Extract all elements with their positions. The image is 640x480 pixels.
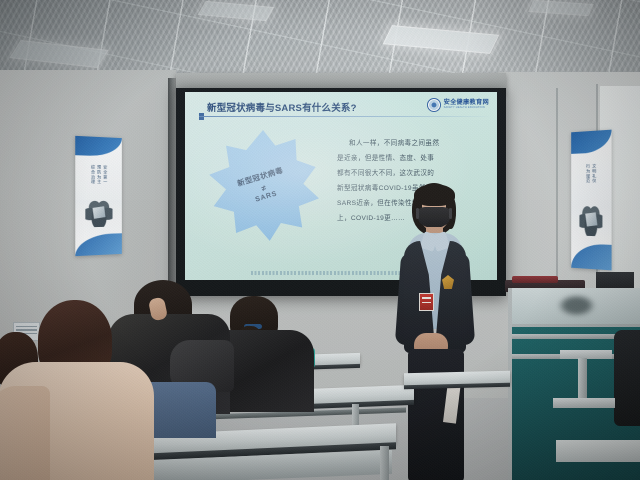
slide-title: 新型冠状病毒与SARS有什么关系?	[207, 100, 357, 114]
slide-title-rule	[199, 116, 491, 117]
slide-star-graphic: 新型冠状病毒 ≠ SARS	[207, 130, 319, 242]
logo-name-sub: SAFETY HEALTH EDUCATION	[444, 107, 489, 110]
slide-logo-text: 安全健康教育网 SAFETY HEALTH EDUCATION	[444, 100, 489, 110]
slide-logo: 安全健康教育网 SAFETY HEALTH EDUCATION	[427, 98, 489, 111]
slide-body-line: 和人一样，不同病毒之间虽然	[337, 136, 489, 151]
slide-body-line: 是近亲，但是性情、态度、处事	[337, 151, 489, 166]
staff-id-card	[419, 293, 434, 311]
partition-top-object	[512, 276, 558, 283]
banner-illustration-icon	[579, 203, 602, 237]
presenter	[386, 183, 484, 480]
attendee-front-left	[8, 300, 138, 480]
banner-illustration-icon	[85, 198, 112, 227]
face-mask-icon	[418, 207, 450, 228]
keyboard-tray	[553, 398, 615, 408]
banner-bottom-accent	[75, 233, 122, 256]
classroom-photo: 安全第一 预防为主 综合治理 文明礼仪 行为规范 新型冠状病毒与SARS有什么关…	[0, 0, 640, 480]
banner-bottom-accent	[571, 243, 611, 270]
wall-banner-right: 文明礼仪 行为规范	[571, 130, 611, 271]
side-desk	[556, 440, 640, 462]
circular-seal-icon	[427, 98, 441, 112]
wall-seam	[556, 88, 558, 288]
office-chair-back	[614, 330, 640, 426]
banner-top-accent	[571, 130, 611, 154]
banner-top-accent	[75, 136, 122, 157]
logo-name-cn: 安全健康教育网	[444, 100, 489, 106]
slide-body-line: 都有不同很大不同，这次武汉的	[337, 166, 489, 181]
desk-leg	[380, 446, 389, 480]
wall-banner-left: 安全第一 预防为主 综合治理	[75, 136, 122, 256]
partition-glass-panel	[512, 288, 640, 327]
attendee-shoulder	[0, 386, 50, 480]
